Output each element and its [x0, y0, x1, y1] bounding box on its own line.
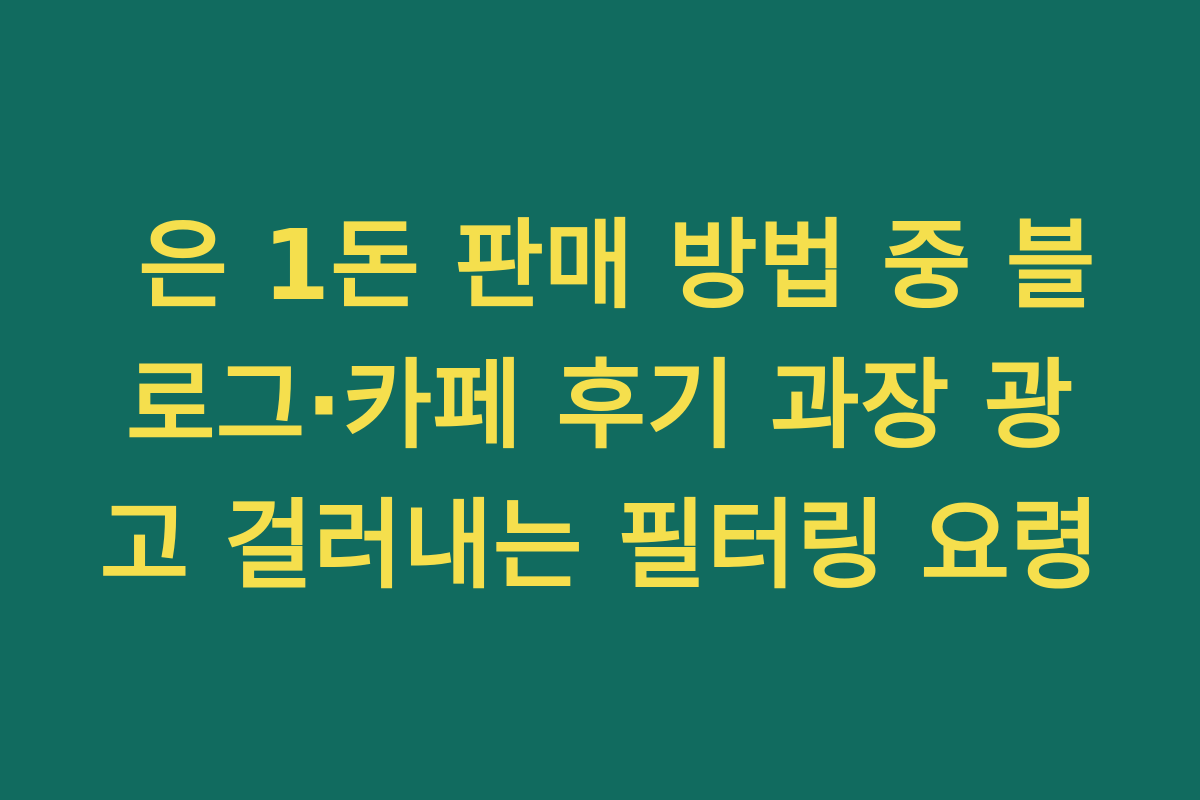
- headline-line-1: 은 1돈 판매 방법 중 블: [70, 196, 1130, 336]
- banner-canvas: 은 1돈 판매 방법 중 블 로그·카페 후기 과장 광 고 걸러내는 필터링 …: [0, 0, 1200, 800]
- headline-line-2: 로그·카페 후기 과장 광: [70, 336, 1130, 476]
- headline-line-3: 고 걸러내는 필터링 요령: [70, 476, 1130, 616]
- headline-text-block: 은 1돈 판매 방법 중 블 로그·카페 후기 과장 광 고 걸러내는 필터링 …: [70, 196, 1130, 616]
